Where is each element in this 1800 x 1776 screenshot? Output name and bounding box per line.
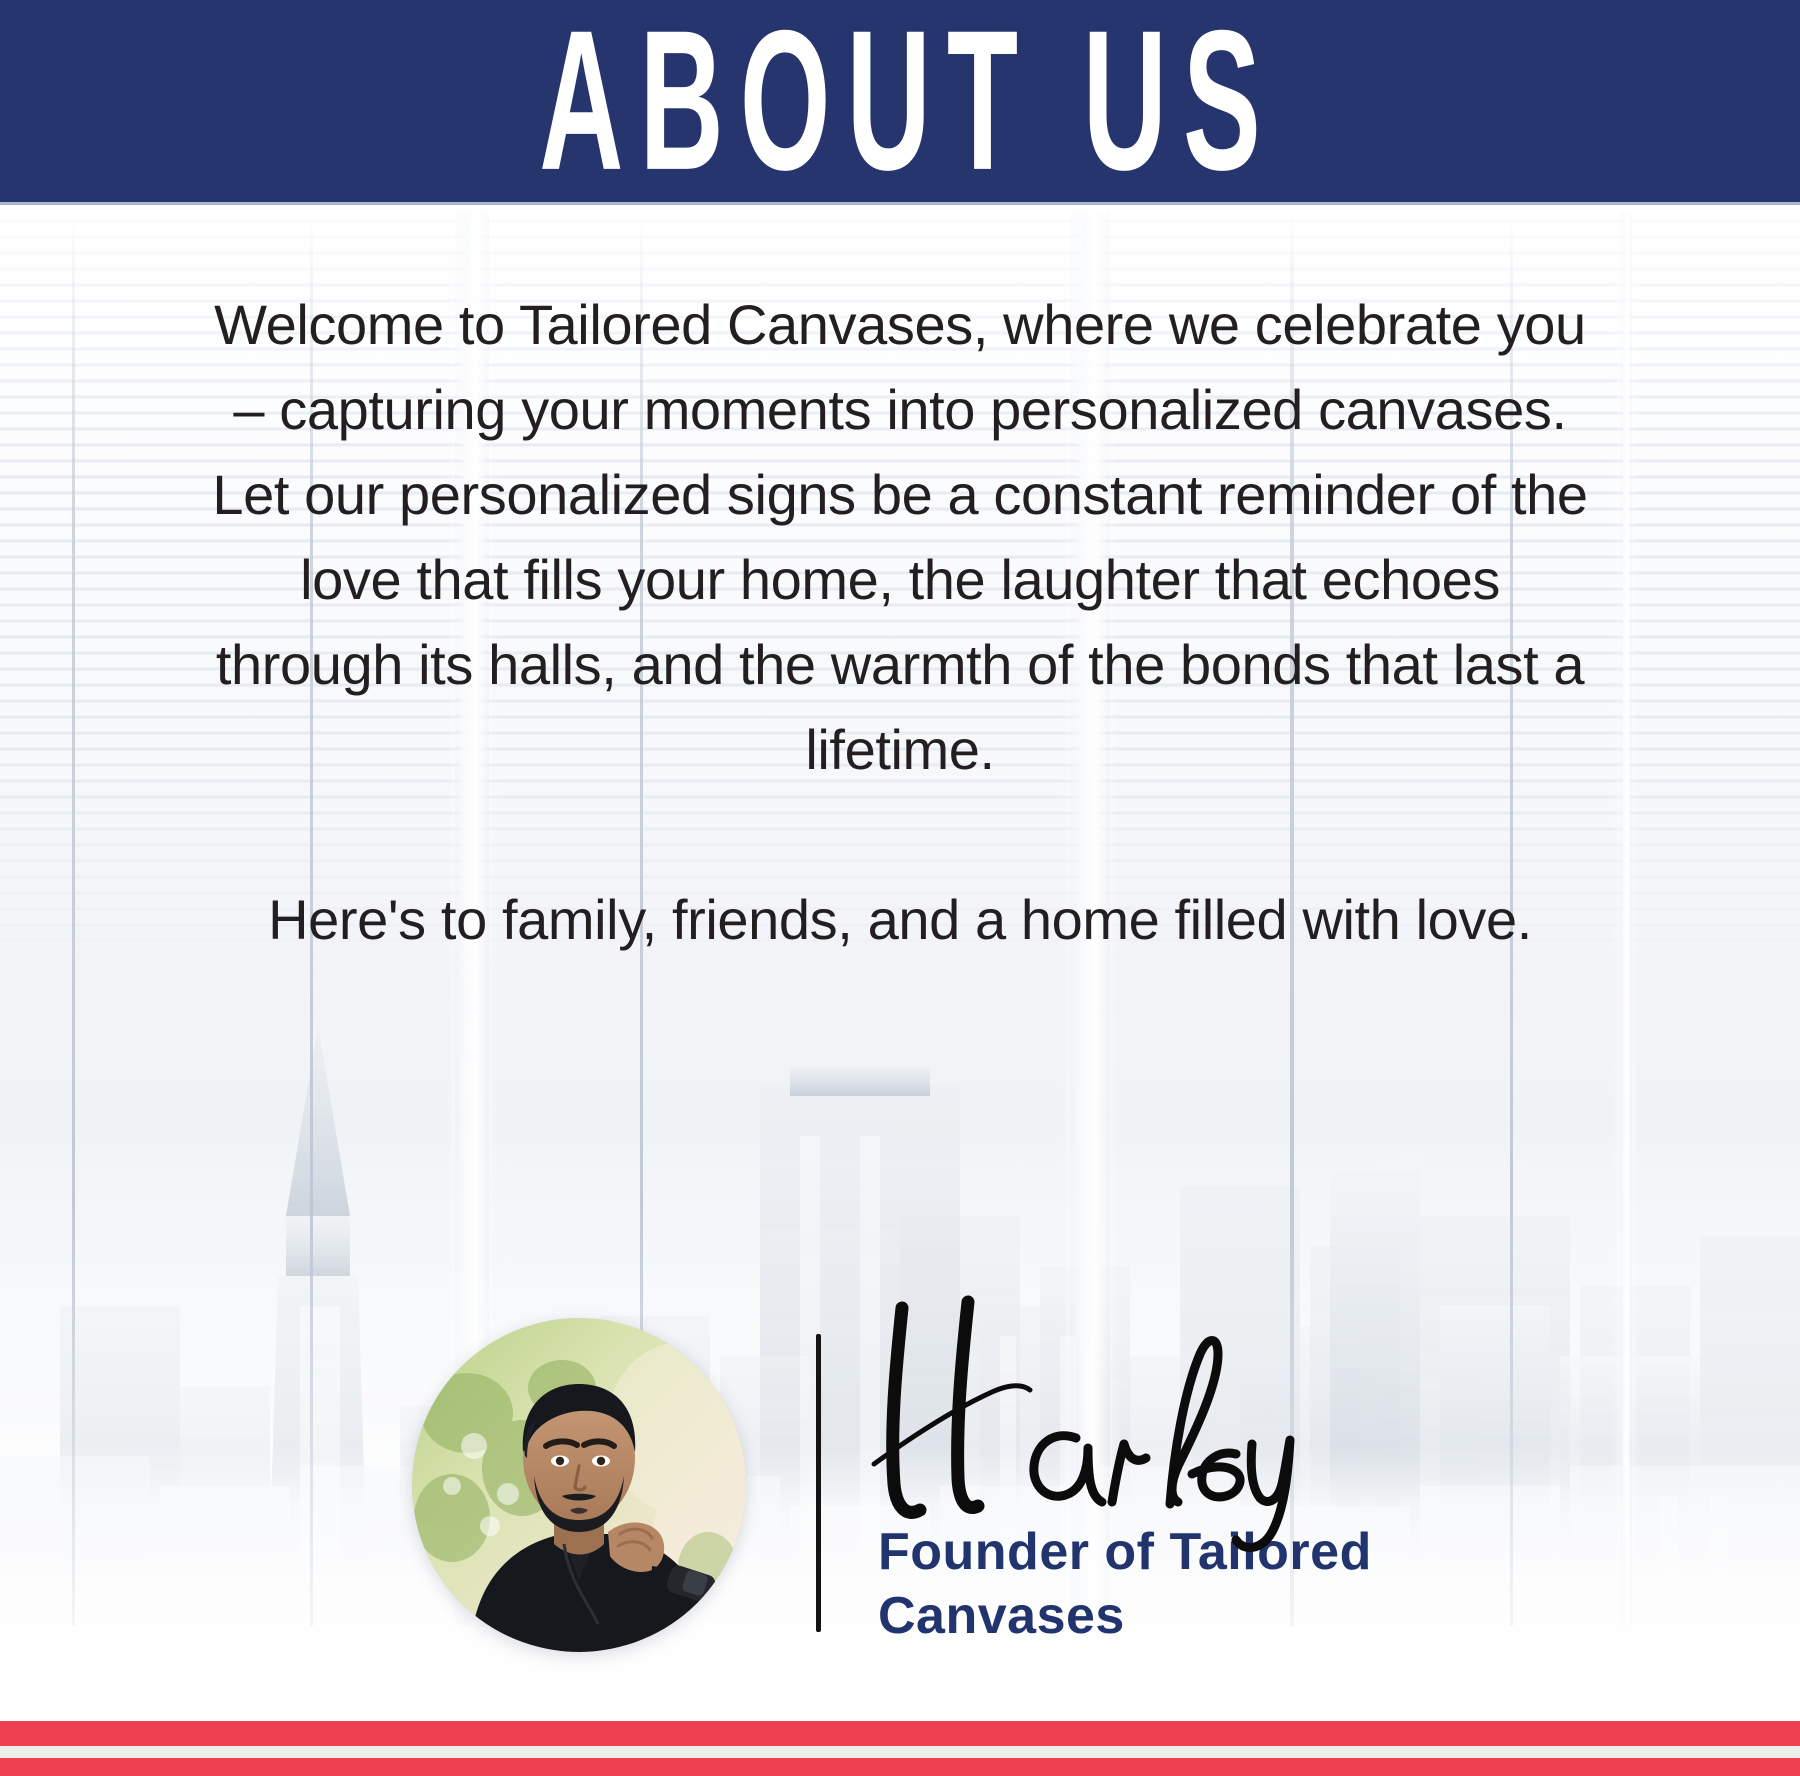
- header-band: ABOUT US: [0, 0, 1800, 205]
- mullion-8: [1620, 213, 1632, 1626]
- founder-portrait-illustration: [412, 1318, 746, 1652]
- about-us-poster: ABOUT US Welcome to Tailored Canvases, w…: [0, 0, 1800, 1776]
- body-paragraph-1: Welcome to Tailored Canvases, where we c…: [210, 282, 1590, 792]
- founder-title: Founder of Tailored Canvases: [878, 1520, 1438, 1648]
- founder-title-line-1: Founder of Tailored: [878, 1520, 1438, 1584]
- signature-divider-line: [816, 1334, 821, 1632]
- founder-title-line-2: Canvases: [878, 1584, 1438, 1648]
- mullion-1: [72, 213, 75, 1626]
- about-us-body-copy: Welcome to Tailored Canvases, where we c…: [210, 282, 1590, 962]
- footer-stripe-gap: [0, 1746, 1800, 1758]
- footer-stripe-bottom: [0, 1758, 1800, 1776]
- body-paragraph-2: Here's to family, friends, and a home fi…: [210, 877, 1590, 962]
- footer-stripe-top: [0, 1721, 1800, 1746]
- avatar: [412, 1318, 746, 1652]
- page-title: ABOUT US: [342, 0, 1458, 206]
- header-bottom-rule: [0, 202, 1800, 205]
